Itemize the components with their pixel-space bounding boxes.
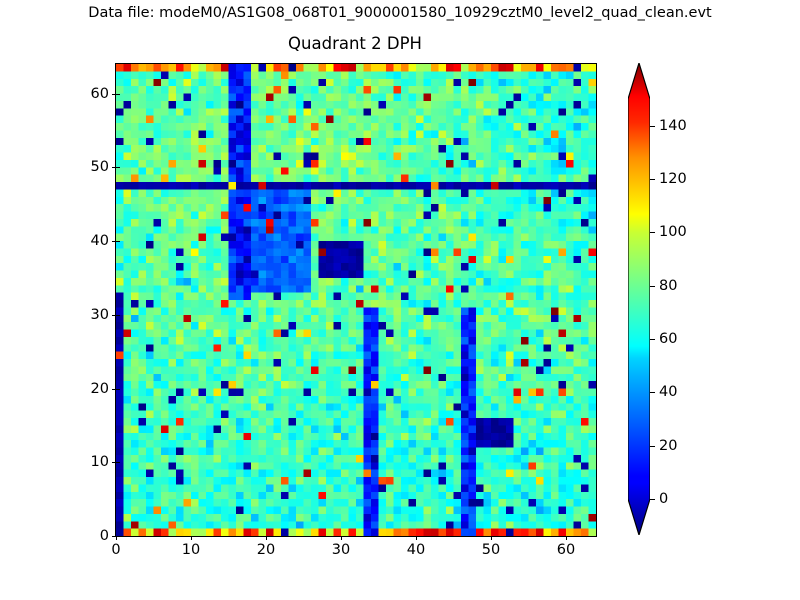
y-tick-label: 10 bbox=[91, 454, 109, 470]
y-tick-label: 60 bbox=[91, 86, 109, 102]
colorbar-tick-mark bbox=[650, 232, 655, 233]
matplotlib-figure: Data file: modeM0/AS1G08_068T01_90000015… bbox=[0, 0, 800, 600]
colorbar-tick-label: 0 bbox=[659, 491, 668, 507]
figure-suptitle: Data file: modeM0/AS1G08_068T01_90000015… bbox=[0, 5, 800, 21]
colorbar-tick-mark bbox=[650, 446, 655, 447]
x-tick-mark bbox=[416, 536, 417, 540]
colorbar-tick-label: 20 bbox=[659, 438, 677, 454]
y-tick-mark-inner bbox=[116, 94, 120, 95]
colorbar-tick-mark bbox=[650, 499, 655, 500]
colorbar-tick-mark bbox=[650, 179, 655, 180]
x-tick-mark bbox=[116, 536, 117, 540]
y-tick-label: 40 bbox=[91, 233, 109, 249]
x-tick-label: 40 bbox=[407, 542, 425, 558]
colorbar-tick-mark bbox=[650, 126, 655, 127]
colorbar: 020406080100120140 bbox=[628, 63, 650, 535]
colorbar-tick-mark bbox=[650, 392, 655, 393]
x-tick-mark bbox=[566, 536, 567, 540]
y-tick-mark-inner bbox=[116, 241, 120, 242]
y-tick-mark-inner bbox=[116, 389, 120, 390]
y-tick-mark-inner bbox=[116, 462, 120, 463]
heatmap-image bbox=[116, 64, 596, 536]
y-tick-mark-inner bbox=[116, 167, 120, 168]
plot-title: Quadrant 2 DPH bbox=[115, 34, 595, 53]
x-tick-mark bbox=[341, 536, 342, 540]
x-tick-mark bbox=[266, 536, 267, 540]
colorbar-tick-label: 80 bbox=[659, 278, 677, 294]
x-tick-label: 10 bbox=[182, 542, 200, 558]
x-tick-label: 30 bbox=[332, 542, 350, 558]
colorbar-tick-label: 60 bbox=[659, 331, 677, 347]
x-tick-mark bbox=[491, 536, 492, 540]
colorbar-gradient bbox=[628, 63, 650, 535]
y-tick-label: 0 bbox=[100, 528, 109, 544]
heatmap-axes: 0102030405060 0102030405060 bbox=[115, 63, 597, 537]
y-tick-label: 30 bbox=[91, 307, 109, 323]
x-tick-label: 0 bbox=[111, 542, 120, 558]
y-tick-label: 20 bbox=[91, 381, 109, 397]
x-tick-label: 20 bbox=[257, 542, 275, 558]
y-tick-mark-inner bbox=[116, 315, 120, 316]
colorbar-tick-mark bbox=[650, 339, 655, 340]
x-tick-mark bbox=[191, 536, 192, 540]
colorbar-tick-label: 100 bbox=[659, 224, 687, 240]
x-tick-label: 60 bbox=[557, 542, 575, 558]
colorbar-tick-mark bbox=[650, 286, 655, 287]
colorbar-tick-label: 120 bbox=[659, 171, 687, 187]
y-tick-label: 50 bbox=[91, 159, 109, 175]
colorbar-tick-label: 40 bbox=[659, 384, 677, 400]
colorbar-tick-label: 140 bbox=[659, 118, 687, 134]
x-tick-label: 50 bbox=[482, 542, 500, 558]
